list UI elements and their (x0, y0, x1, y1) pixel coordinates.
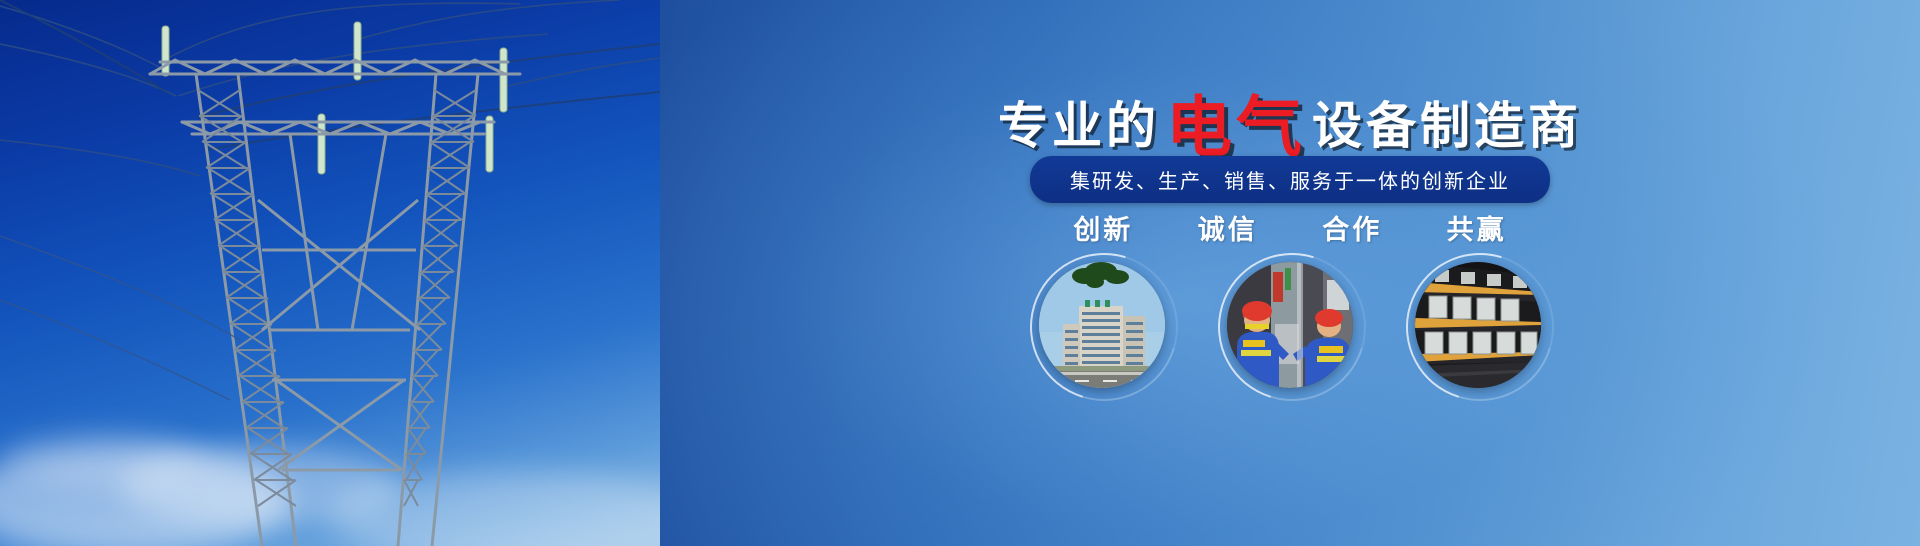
hero-banner: 专业的电气设备制造商 集研发、生产、销售、服务于一体的创新企业 创新 诚信 合作… (0, 0, 1920, 546)
office-building-photo (1039, 262, 1165, 388)
banner-content: 专业的电气设备制造商 集研发、生产、销售、服务于一体的创新企业 创新 诚信 合作… (660, 0, 1920, 546)
transmission-tower-scene (0, 0, 660, 546)
photo-item (1227, 262, 1353, 388)
workers-installation-photo (1227, 262, 1353, 388)
headline-prefix: 专业的 (998, 97, 1160, 155)
subtitle-text: 集研发、生产、销售、服务于一体的创新企业 (1070, 169, 1510, 193)
value-word-4: 共赢 (1447, 208, 1507, 247)
headline-suffix: 设备制造商 (1312, 97, 1582, 155)
value-word-3: 合作 (1322, 208, 1382, 247)
value-word-2: 诚信 (1198, 208, 1258, 247)
value-words-row: 创新 诚信 合作 共赢 (660, 208, 1920, 247)
photo-item (1039, 262, 1165, 388)
transmission-tower-icon (0, 0, 660, 546)
value-word-1: 创新 (1073, 208, 1133, 247)
subtitle-pill: 集研发、生产、销售、服务于一体的创新企业 (1030, 156, 1550, 203)
showroom-display-photo (1415, 262, 1541, 388)
photo-item (1415, 262, 1541, 388)
photo-thumbnails-row (660, 262, 1920, 388)
headline-highlight: 电气 (1166, 89, 1306, 166)
